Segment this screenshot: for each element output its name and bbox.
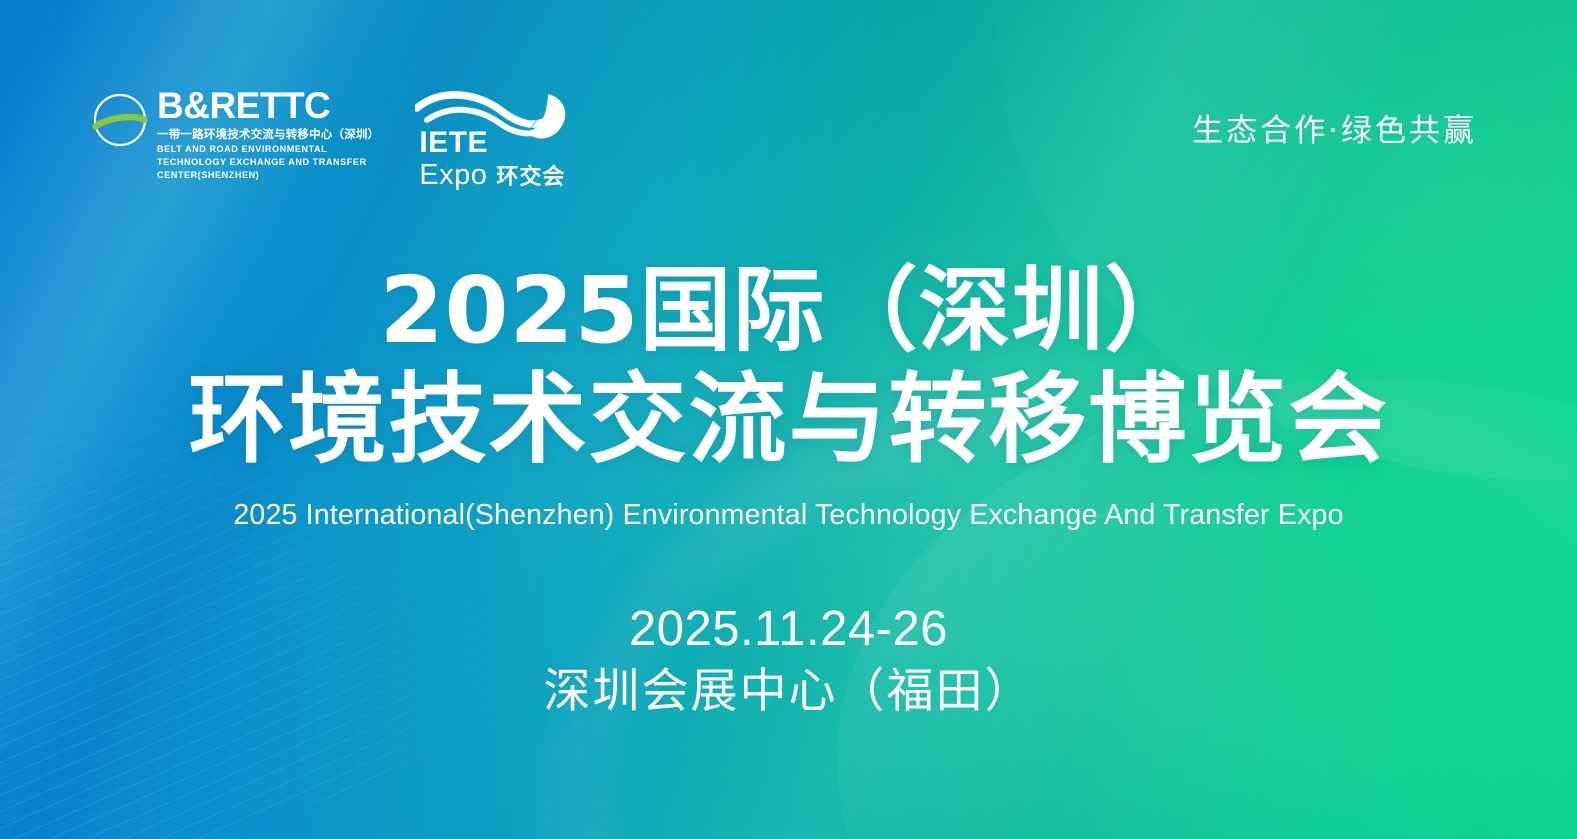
title-line-2: 环境技术交流与转移博览会 — [0, 366, 1577, 476]
iete-chinese-name: 环交会 — [496, 159, 565, 191]
brettc-english-line-1: BELT AND ROAD ENVIRONMENTAL — [157, 143, 379, 155]
brettc-acronym: B&RETTC — [157, 88, 379, 124]
title-block: 2025国际（深圳） 环境技术交流与转移博览会 2025 Internation… — [0, 262, 1577, 532]
iete-expo-word: Expo — [419, 160, 487, 190]
iete-acronym: IETE — [419, 128, 565, 158]
event-info-block: 2025.11.24-26 深圳会展中心（福田） — [0, 601, 1577, 722]
tagline: 生态合作·绿色共赢 — [1192, 105, 1477, 150]
title-line-1: 2025国际（深圳） — [0, 262, 1577, 360]
brettc-english-line-3: CENTER(SHENZHEN) — [157, 169, 379, 181]
event-date: 2025.11.24-26 — [0, 601, 1577, 659]
iete-expo-logo[interactable]: IETE Expo 环交会 — [415, 90, 575, 194]
brettc-logo[interactable]: B&RETTC 一带一路环境技术交流与转移中心（深圳） BELT AND ROA… — [92, 88, 379, 181]
event-venue: 深圳会展中心（福田） — [0, 663, 1577, 722]
logo-row: B&RETTC 一带一路环境技术交流与转移中心（深圳） BELT AND ROA… — [92, 88, 575, 194]
title-english-subtitle: 2025 International(Shenzhen) Environment… — [0, 498, 1577, 532]
brettc-english-line-2: TECHNOLOGY EXCHANGE AND TRANSFER — [157, 156, 379, 168]
brettc-chinese-name: 一带一路环境技术交流与转移中心（深圳） — [157, 127, 379, 141]
expo-banner: B&RETTC 一带一路环境技术交流与转移中心（深圳） BELT AND ROA… — [0, 0, 1577, 839]
circle-with-green-band-icon — [92, 92, 148, 148]
